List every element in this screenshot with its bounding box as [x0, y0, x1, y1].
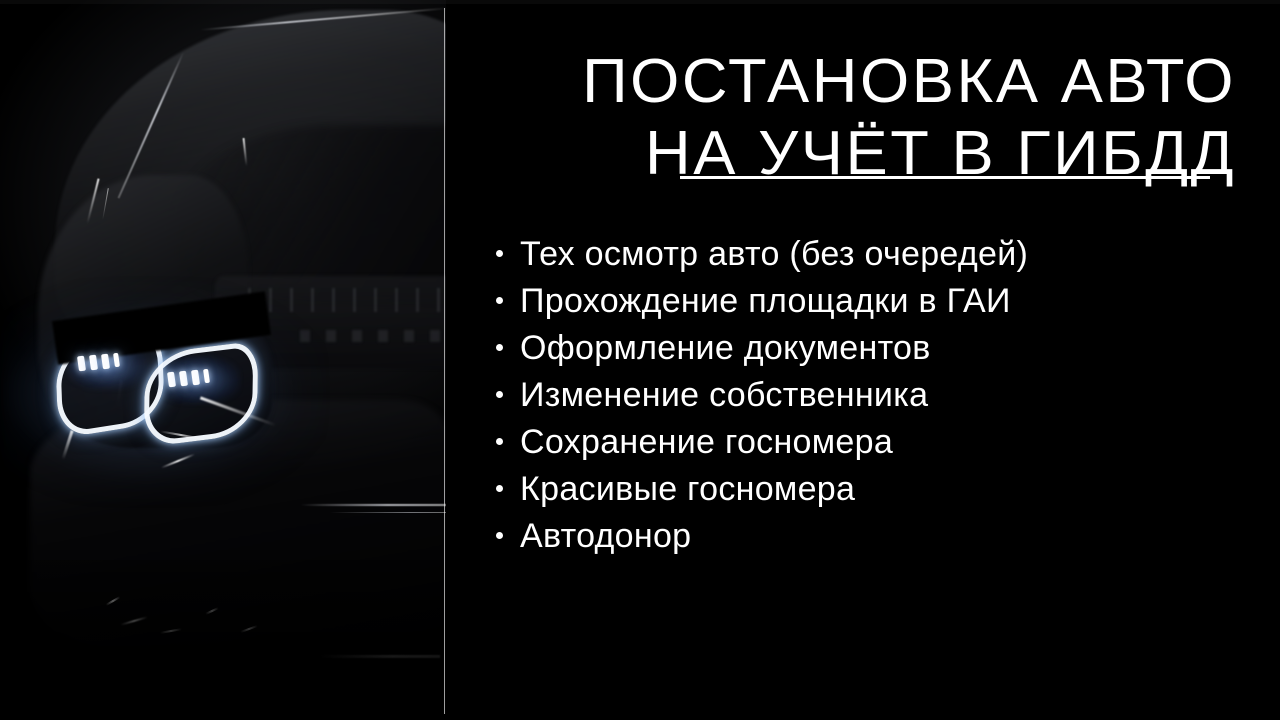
bullet-dot-icon: [496, 485, 503, 492]
bullet-dot-icon: [496, 344, 503, 351]
services-list: Тех осмотр авто (без очередей) Прохожден…: [496, 234, 1028, 563]
list-item: Оформление документов: [496, 328, 1028, 375]
list-item-label: Оформление документов: [520, 328, 931, 368]
list-item: Тех осмотр авто (без очередей): [496, 234, 1028, 281]
car-photo-panel: [0, 0, 446, 720]
list-item-label: Тех осмотр авто (без очередей): [520, 234, 1028, 274]
bullet-dot-icon: [496, 532, 503, 539]
lower-shadow-overlay: [0, 560, 446, 720]
list-item: Сохранение госномера: [496, 422, 1028, 469]
bullet-dot-icon: [496, 297, 503, 304]
led-headlight: [48, 322, 274, 460]
title-divider-rule: [680, 176, 1210, 179]
list-item-label: Изменение собственника: [520, 375, 928, 415]
bullet-dot-icon: [496, 391, 503, 398]
content-panel: ПОСТАНОВКА АВТО НА УЧЁТ В ГИБДД Тех осмо…: [446, 0, 1280, 720]
list-item: Прохождение площадки в ГАИ: [496, 281, 1028, 328]
poster-root: ПОСТАНОВКА АВТО НА УЧЁТ В ГИБДД Тех осмо…: [0, 0, 1280, 720]
bullet-dot-icon: [496, 250, 503, 257]
title-line-2: НА УЧЁТ В ГИБДД: [430, 118, 1236, 190]
list-item: Автодонор: [496, 516, 1028, 563]
list-item-label: Сохранение госномера: [520, 422, 893, 462]
list-item-label: Автодонор: [520, 516, 691, 556]
list-item: Красивые госномера: [496, 469, 1028, 516]
list-item-label: Красивые госномера: [520, 469, 855, 509]
title-line-1: ПОСТАНОВКА АВТО: [430, 46, 1236, 118]
list-item-label: Прохождение площадки в ГАИ: [520, 281, 1011, 321]
page-title: ПОСТАНОВКА АВТО НА УЧЁТ В ГИБДД: [446, 46, 1236, 190]
list-item: Изменение собственника: [496, 375, 1028, 422]
bullet-dot-icon: [496, 438, 503, 445]
